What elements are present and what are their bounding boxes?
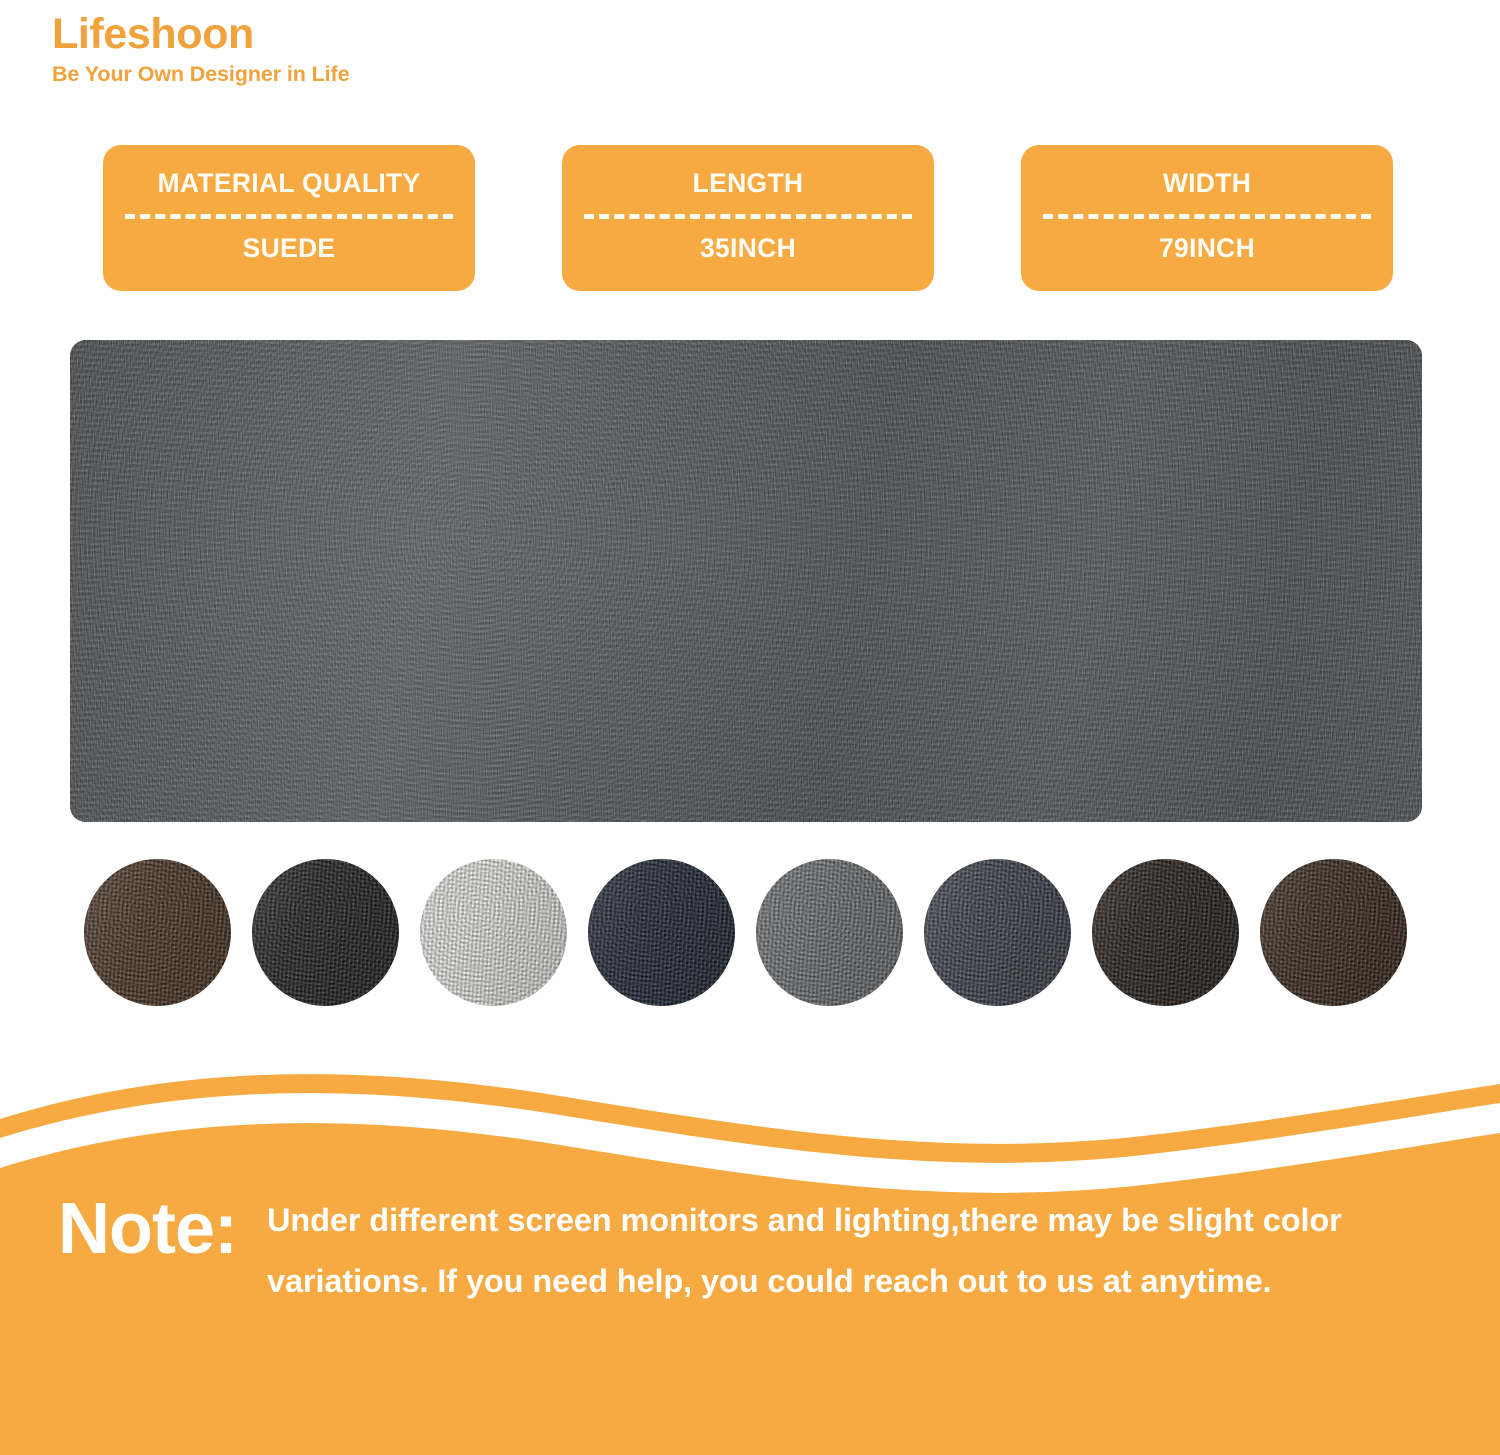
spec-badge-label: LENGTH (693, 168, 804, 199)
product-photo (70, 340, 1422, 822)
dashed-divider (1043, 214, 1371, 219)
spec-badge-material-quality: MATERIAL QUALITY SUEDE (103, 145, 475, 291)
note-label: Note: (58, 1190, 237, 1265)
brand-tagline: Be Your Own Designer in Life (52, 62, 752, 87)
swatch-shade (924, 859, 1071, 1006)
spec-badge-value: 79INCH (1159, 233, 1255, 264)
color-swatch-row (84, 852, 1424, 1012)
footer-note-banner: Note: Under different screen monitors an… (0, 1072, 1500, 1455)
color-swatch[interactable] (420, 859, 567, 1006)
swatch-shade (84, 859, 231, 1006)
color-swatch[interactable] (252, 859, 399, 1006)
spec-badge-width: WIDTH 79INCH (1021, 145, 1393, 291)
dashed-divider (584, 214, 912, 219)
spec-badge-value: SUEDE (243, 233, 336, 264)
spec-badge-row: MATERIAL QUALITY SUEDE LENGTH 35INCH WID… (103, 145, 1393, 291)
spec-badge-label: MATERIAL QUALITY (158, 168, 421, 199)
spec-badge-label: WIDTH (1163, 168, 1251, 199)
brand-name: Lifeshoon (52, 10, 752, 58)
note-text: Under different screen monitors and ligh… (267, 1190, 1392, 1312)
spec-badge-value: 35INCH (700, 233, 796, 264)
swatch-shade (252, 859, 399, 1006)
color-swatch[interactable] (924, 859, 1071, 1006)
brand-header: Lifeshoon Be Your Own Designer in Life (52, 10, 752, 87)
product-vignette (70, 340, 1422, 822)
color-swatch[interactable] (1260, 859, 1407, 1006)
swatch-shade (420, 859, 567, 1006)
color-swatch[interactable] (588, 859, 735, 1006)
swatch-shade (588, 859, 735, 1006)
color-swatch[interactable] (1092, 859, 1239, 1006)
swatch-shade (1260, 859, 1407, 1006)
swatch-shade (1092, 859, 1239, 1006)
color-swatch[interactable] (756, 859, 903, 1006)
product-infographic: Lifeshoon Be Your Own Designer in Life M… (0, 0, 1500, 1455)
swatch-shade (756, 859, 903, 1006)
color-swatch[interactable] (84, 859, 231, 1006)
spec-badge-length: LENGTH 35INCH (562, 145, 934, 291)
dashed-divider (125, 214, 453, 219)
note-content: Note: Under different screen monitors an… (58, 1190, 1458, 1312)
